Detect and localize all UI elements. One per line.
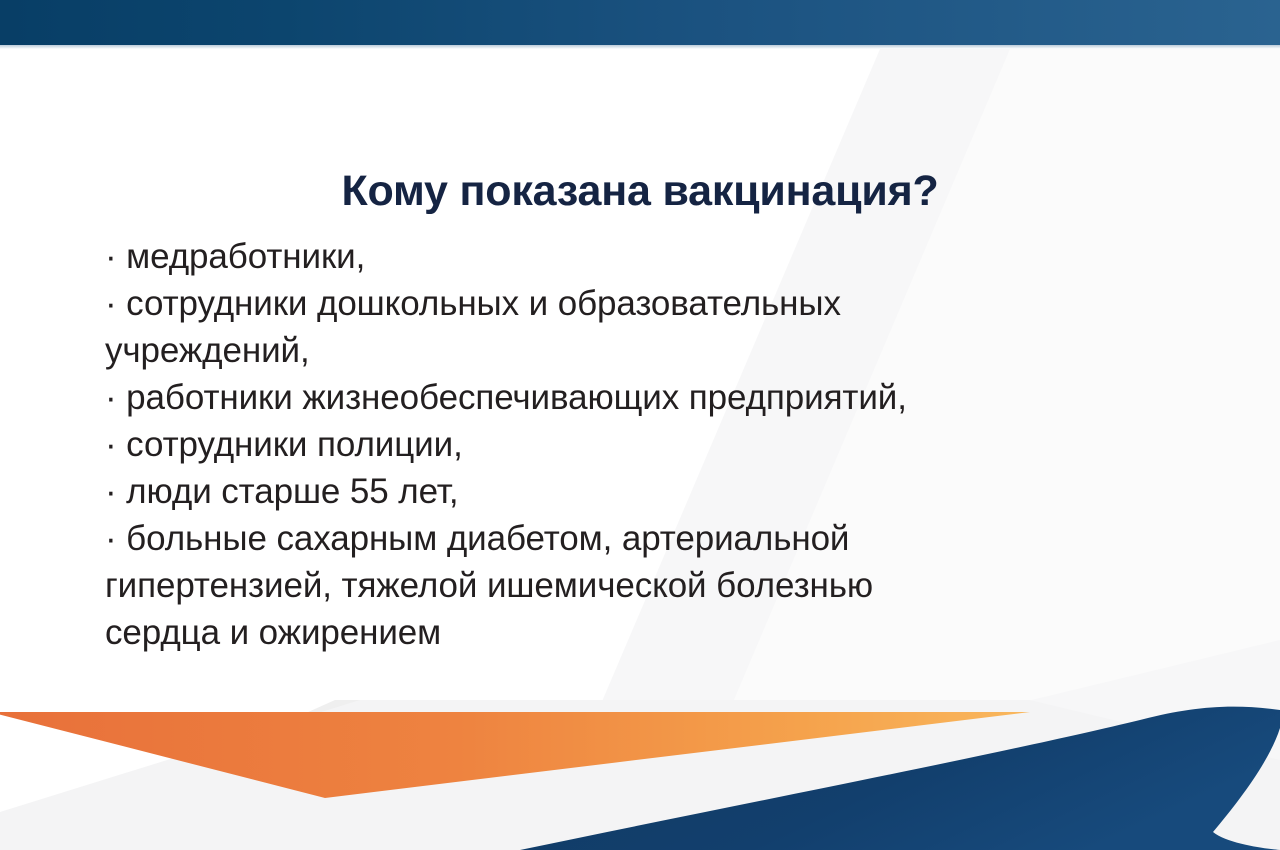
list-item: · больные сахарным диабетом, артериально…: [105, 515, 1175, 562]
list-item: · работники жизнеобеспечивающих предприя…: [105, 374, 1175, 421]
slide-canvas: Кому показана вакцинация? · медработники…: [0, 0, 1280, 850]
top-gradient-bar: [0, 0, 1280, 45]
list-item: гипертензией, тяжелой ишемической болезн…: [105, 562, 1175, 609]
list-item: · сотрудники полиции,: [105, 421, 1175, 468]
bullet-list: · медработники, · сотрудники дошкольных …: [105, 233, 1175, 656]
list-item: · люди старше 55 лет,: [105, 468, 1175, 515]
page-title: Кому показана вакцинация?: [0, 168, 1280, 215]
list-item: · сотрудники дошкольных и образовательны…: [105, 280, 1175, 327]
list-item: учреждений,: [105, 327, 1175, 374]
slide-content: Кому показана вакцинация? · медработники…: [0, 0, 1280, 850]
top-bar-shadow: [0, 45, 1280, 49]
list-item: сердца и ожирением: [105, 609, 1175, 656]
list-item: · медработники,: [105, 233, 1175, 280]
